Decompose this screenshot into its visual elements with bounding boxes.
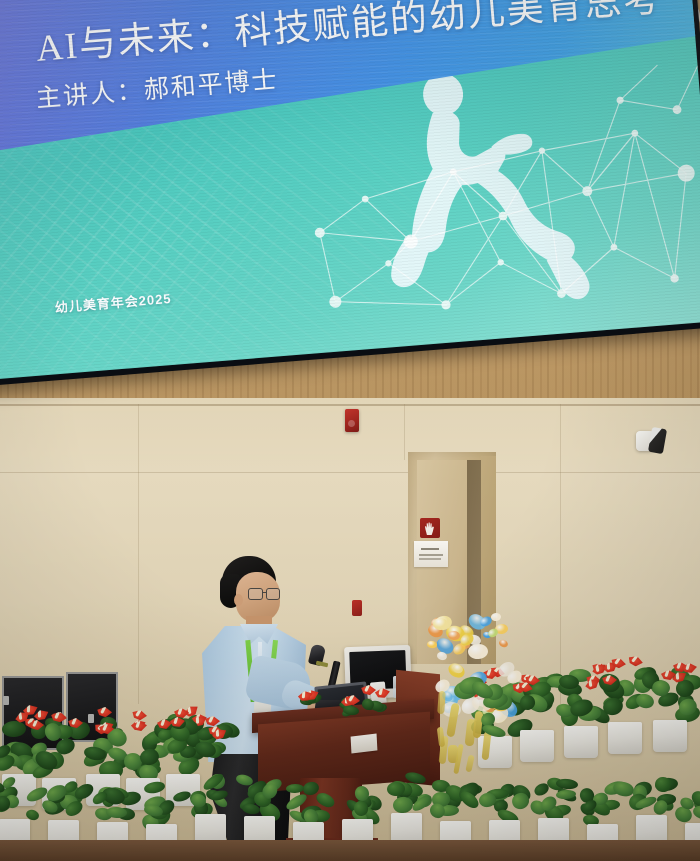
decor-element [677,658,684,669]
decor-element [101,703,109,714]
led-presentation-screen: AI与未来：科技赋能的幼儿美育思考 主讲人：郝和平博士 幼儿美育年会2025 [0,0,700,386]
fire-alarm-icon [345,409,359,432]
wall-speaker-icon [636,428,666,454]
bouquet-stem [481,731,491,761]
decor-element [54,708,61,719]
potted-anthurium [196,712,246,802]
podium-anthurium [330,686,364,726]
bouquet-flower [491,613,502,622]
conference-photo: AI与未来：科技赋能的幼儿美育思考 主讲人：郝和平博士 幼儿美育年会2025 [0,0,700,861]
flower-pot [653,720,687,752]
podium-anthurium [296,682,330,722]
bouquet-stem [436,726,444,747]
decor-element [606,658,610,669]
bouquet-flower [448,631,460,641]
door-notice-paper [414,541,448,567]
wall-seam [138,404,139,704]
bouquet-flower [426,641,437,650]
decor-element [177,704,183,715]
wall-seam [404,404,405,460]
decor-element [26,701,30,712]
decor-element [393,796,414,814]
bouquet-stem [465,755,474,773]
anthurium-flower [360,685,376,696]
manual-call-point-sign-icon [420,518,440,538]
decor-element [632,653,641,664]
flower-pot [608,722,642,754]
screen-surface: AI与未来：科技赋能的幼儿美育思考 主讲人：郝和平博士 幼儿美育年会2025 [0,0,700,380]
decor-element [686,659,692,670]
potted-anthurium [150,706,200,796]
flower-pot [564,726,598,758]
podium-anthurium [360,684,394,724]
anthurium-flower [375,687,391,698]
potted-anthurium [645,648,700,768]
decor-element [2,721,27,739]
decor-element [160,715,166,726]
decor-element [664,666,670,677]
fire-alarm-icon [352,600,362,616]
decor-element [379,684,384,695]
decor-element [286,783,304,793]
floor [0,840,700,861]
wall-seam [0,404,700,406]
bouquet-flower [498,638,509,648]
anthurium-flower [97,706,113,718]
wall-seam [0,472,700,473]
decor-element [38,706,41,717]
bouquet-flower [468,644,488,660]
glasses-icon [248,588,281,600]
anthurium-flower [627,654,644,668]
decor-element [302,688,306,699]
bouquet-flower [436,651,448,661]
decor-element [614,654,623,665]
decor-element [348,691,356,702]
decor-element [18,709,23,720]
decor-element [208,712,215,723]
decor-element [343,705,359,715]
flower-bouquet [428,616,538,806]
decor-element [135,706,143,717]
anthurium-flower [131,709,148,722]
podium-name-card [351,733,378,753]
